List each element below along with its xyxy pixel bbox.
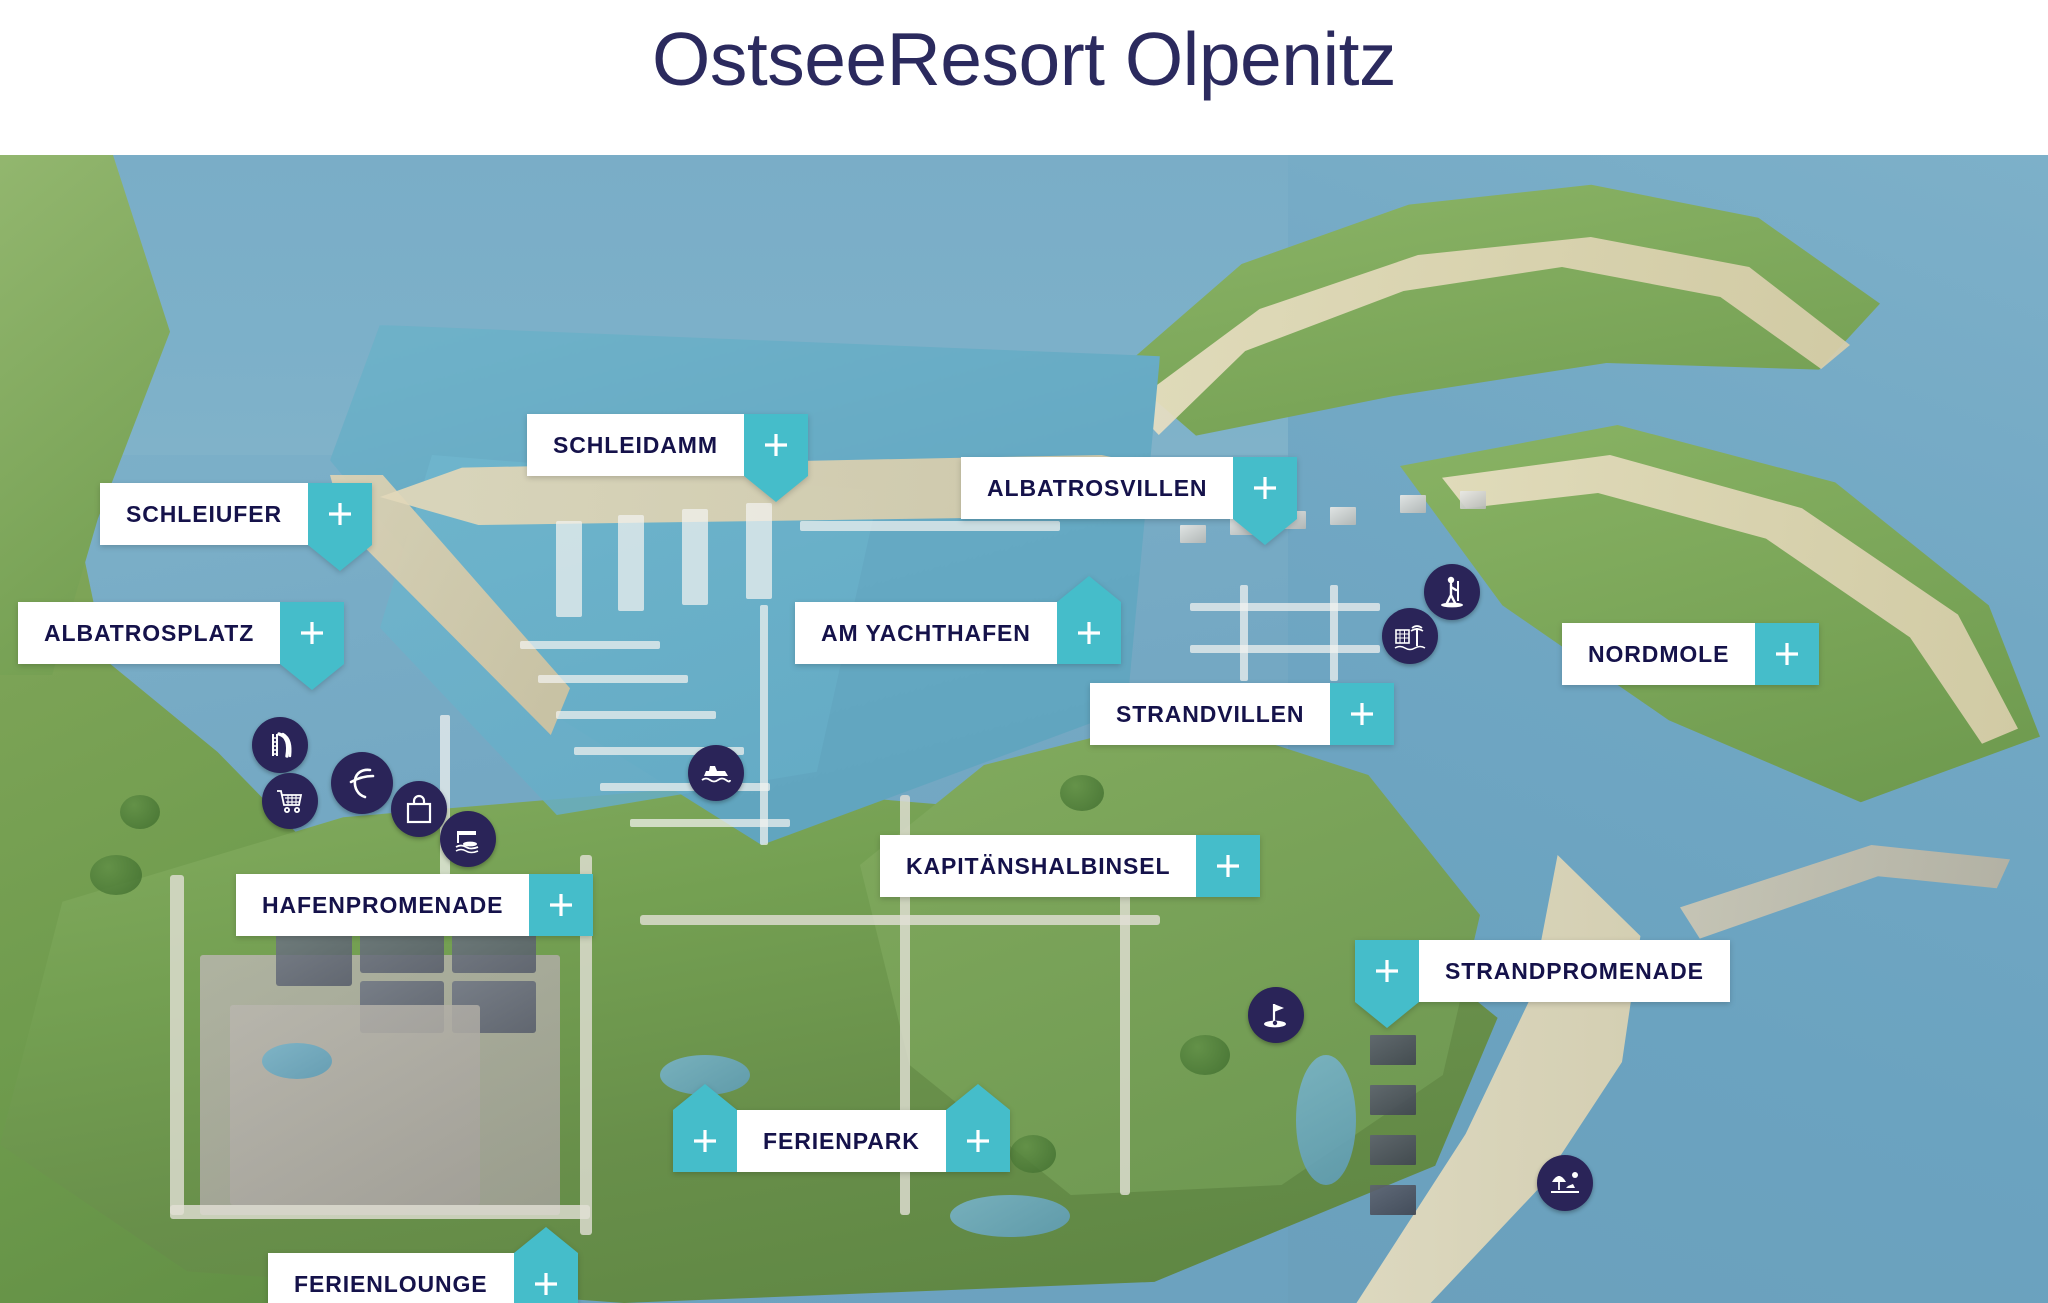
plus-icon [1213,851,1243,881]
poi-waterpark[interactable] [1382,608,1438,664]
hotspot-label-strandvillen: STRANDVILLEN [1090,683,1330,745]
hotspot-albatrosplatz[interactable]: ALBATROSPLATZ [18,602,344,664]
expand-button-schleidamm[interactable] [744,414,808,476]
hotspot-label-kapitaenshalbinsel: KAPITÄNSHALBINSEL [880,835,1196,897]
waterslide-icon [264,729,296,761]
hotspot-kapitaenshalbinsel[interactable]: KAPITÄNSHALBINSEL [880,835,1260,897]
plus-icon [1074,618,1104,648]
plus-icon [690,1126,720,1156]
hotspot-ferienpark[interactable]: FERIENPARK [673,1110,1010,1172]
plus-icon [1250,473,1280,503]
beach-umbrella-icon [1548,1168,1582,1198]
shopping-cart-icon [274,785,306,817]
hotspot-strandvillen[interactable]: STRANDVILLEN [1090,683,1394,745]
hotspot-label-am-yachthafen: AM YACHTHAFEN [795,602,1057,664]
paddleboard-icon [1436,575,1468,609]
plus-icon [963,1126,993,1156]
f-logo-icon [342,763,382,803]
hotspot-label-ferienlounge: FERIENLOUNGE [268,1253,514,1303]
expand-button-kapitaenshalbinsel[interactable] [1196,835,1260,897]
poi-golf[interactable] [1248,987,1304,1043]
hotspot-label-strandpromenade: STRANDPROMENADE [1419,940,1730,1002]
shopping-bag-icon [404,793,434,825]
hotspot-label-albatrosplatz: ALBATROSPLATZ [18,602,280,664]
hotspot-albatrosvillen[interactable]: ALBATROSVILLEN [961,457,1297,519]
hotspot-label-albatrosvillen: ALBATROSVILLEN [961,457,1233,519]
hotspot-strandpromenade[interactable]: STRANDPROMENADE [1355,940,1730,1002]
expand-button-am-yachthafen[interactable] [1057,602,1121,664]
map-background-image [0,155,2048,1303]
expand-button-ferienpark-right[interactable] [946,1110,1010,1172]
page-title: OstseeResort Olpenitz [0,16,2048,102]
expand-button-schleiufer[interactable] [308,483,372,545]
expand-button-nordmole[interactable] [1755,623,1819,685]
poi-f-brand[interactable] [331,752,393,814]
hotspot-label-nordmole: NORDMOLE [1562,623,1755,685]
plus-icon [546,890,576,920]
boat-slip-icon [452,823,484,855]
hotspot-label-ferienpark: FERIENPARK [737,1110,946,1172]
expand-button-hafenpromenade[interactable] [529,874,593,936]
expand-button-albatrosvillen[interactable] [1233,457,1297,519]
plus-icon [761,430,791,460]
yacht-icon [699,758,733,788]
expand-button-ferienlounge[interactable] [514,1253,578,1303]
hotspot-label-schleidamm: SCHLEIDAMM [527,414,744,476]
plus-icon [1772,639,1802,669]
expand-button-strandvillen[interactable] [1330,683,1394,745]
hotspot-hafenpromenade[interactable]: HAFENPROMENADE [236,874,593,936]
poi-yacht[interactable] [688,745,744,801]
expand-button-strandpromenade[interactable] [1355,940,1419,1002]
poi-boat-slip[interactable] [440,811,496,867]
poi-beach[interactable] [1537,1155,1593,1211]
hotspot-nordmole[interactable]: NORDMOLE [1562,623,1819,685]
poi-shopping-cart[interactable] [262,773,318,829]
plus-icon [1347,699,1377,729]
golf-icon [1260,999,1292,1031]
waterpark-icon [1393,620,1427,652]
hotspot-label-schleiufer: SCHLEIUFER [100,483,308,545]
plus-icon [1372,956,1402,986]
hotspot-ferienlounge[interactable]: FERIENLOUNGE [268,1253,578,1303]
expand-button-albatrosplatz[interactable] [280,602,344,664]
poi-paddleboard[interactable] [1424,564,1480,620]
plus-icon [531,1269,561,1299]
map-container: SCHLEIDAMM SCHLEIUFER ALBATROSVILLEN [0,155,2048,1303]
poi-shopping-bag[interactable] [391,781,447,837]
poi-waterslide[interactable] [252,717,308,773]
hotspot-schleidamm[interactable]: SCHLEIDAMM [527,414,808,476]
plus-icon [325,499,355,529]
expand-button-ferienpark-left[interactable] [673,1110,737,1172]
page-root: OstseeResort Olpenitz [0,0,2048,1303]
plus-icon [297,618,327,648]
hotspot-schleiufer[interactable]: SCHLEIUFER [100,483,372,545]
hotspot-label-hafenpromenade: HAFENPROMENADE [236,874,529,936]
hotspot-am-yachthafen[interactable]: AM YACHTHAFEN [795,602,1121,664]
